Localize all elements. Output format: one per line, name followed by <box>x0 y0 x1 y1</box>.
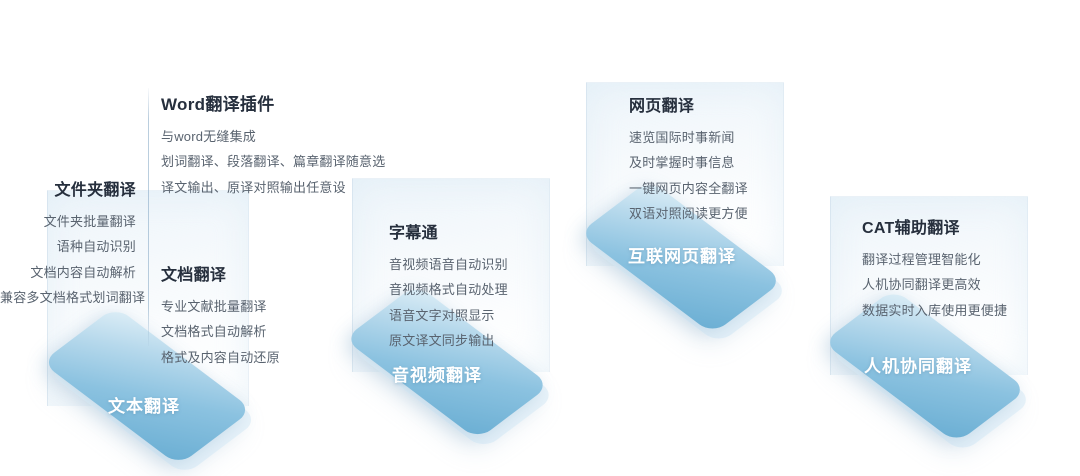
section-item: 音视频格式自动处理 <box>389 281 508 299</box>
section-word-plugin: Word翻译插件 与word无缝集成 划词翻译、段落翻译、篇章翻译随意选 译文输… <box>161 90 385 197</box>
section-item: 及时掌握时事信息 <box>629 154 748 172</box>
section-item: 文件夹批量翻译 <box>0 213 136 231</box>
section-title: 文件夹翻译 <box>0 176 136 200</box>
section-title: 网页翻译 <box>629 92 748 116</box>
section-title: Word翻译插件 <box>161 90 385 115</box>
section-cat-translation: CAT辅助翻译 翻译过程管理智能化 人机协同翻译更高效 数据实时入库使用更便捷 <box>862 214 1007 320</box>
section-item: 数据实时入库使用更便捷 <box>862 302 1007 320</box>
section-title: 字幕通 <box>389 219 508 243</box>
platform-human-machine-translation[interactable] <box>842 322 1008 410</box>
section-item: 文档格式自动解析 <box>161 323 280 341</box>
section-item: 文档内容自动解析 <box>0 264 136 282</box>
section-item: 与word无缝集成 <box>161 128 385 146</box>
section-item: 双语对照阅读更方便 <box>629 205 748 223</box>
section-title: CAT辅助翻译 <box>862 214 1007 238</box>
platform-internet-page-translation[interactable] <box>598 213 764 301</box>
section-folder-translation: 文件夹翻译 文件夹批量翻译 语种自动识别 文档内容自动解析 兼容多文档格式划词翻… <box>0 176 136 308</box>
section-title: 文档翻译 <box>161 261 280 285</box>
section-item: 翻译过程管理智能化 <box>862 251 1007 269</box>
section-item: 音视频语音自动识别 <box>389 256 508 274</box>
section-item: 人机协同翻译更高效 <box>862 276 1007 294</box>
infographic-canvas: 文本翻译 音视频翻译 互联网页翻译 人机协同翻译 文件夹翻译 文件夹批量翻译 语… <box>0 0 1080 475</box>
section-item: 速览国际时事新闻 <box>629 129 748 147</box>
section-subtitle-tool: 字幕通 音视频语音自动识别 音视频格式自动处理 语音文字对照显示 原文译文同步输… <box>389 219 508 351</box>
section-item: 语音文字对照显示 <box>389 307 508 325</box>
section-item: 兼容多文档格式划词翻译 <box>0 289 136 307</box>
section-webpage-translation: 网页翻译 速览国际时事新闻 及时掌握时事信息 一键网页内容全翻译 双语对照阅读更… <box>629 92 748 224</box>
divider-left-column <box>148 88 149 346</box>
section-item: 语种自动识别 <box>0 238 136 256</box>
section-item: 划词翻译、段落翻译、篇章翻译随意选 <box>161 153 385 171</box>
section-item: 译文输出、原译对照输出任意设 <box>161 179 385 197</box>
section-item: 专业文献批量翻译 <box>161 298 280 316</box>
section-item: 格式及内容自动还原 <box>161 349 280 367</box>
section-document-translation: 文档翻译 专业文献批量翻译 文档格式自动解析 格式及内容自动还原 <box>161 261 280 367</box>
section-item: 原文译文同步输出 <box>389 332 508 350</box>
section-item: 一键网页内容全翻译 <box>629 180 748 198</box>
